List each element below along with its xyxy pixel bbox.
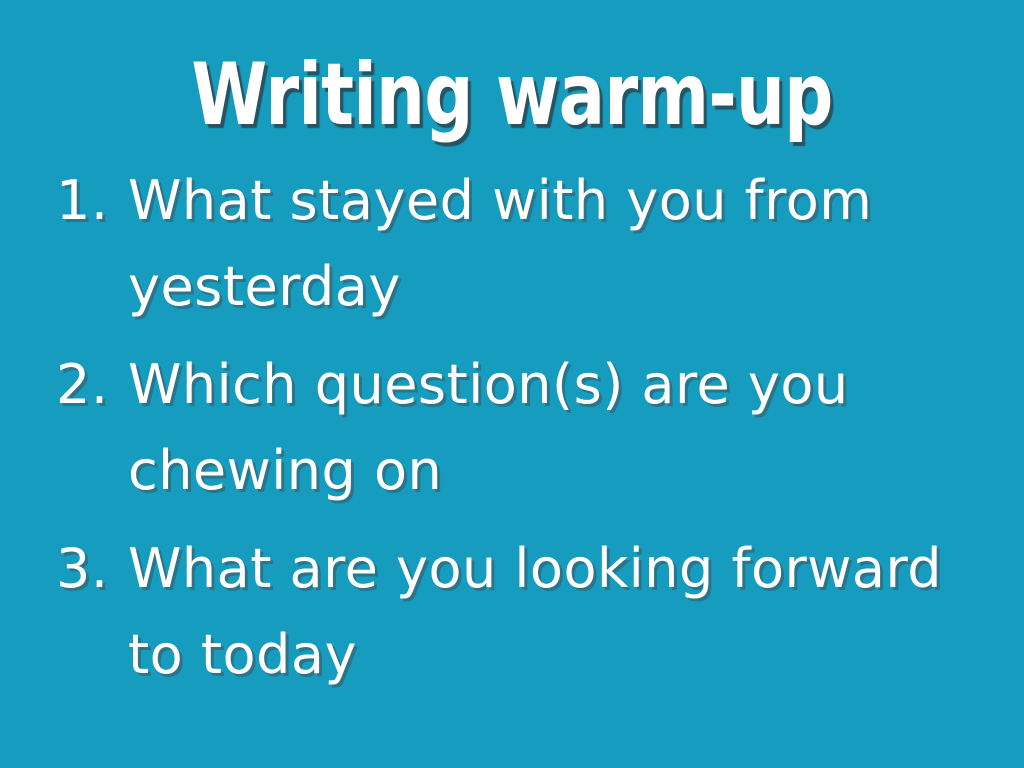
list-item: 1. What stayed with you from yesterday [52, 158, 982, 330]
list-item-text: What stayed with you from yesterday [128, 158, 982, 330]
list-item-text: Which question(s) are you chewing on [128, 342, 982, 514]
warmup-question-list: 1. What stayed with you from yesterday 2… [52, 158, 982, 710]
list-item-number: 3. [56, 526, 120, 612]
list-item-text: What are you looking forward to today [128, 526, 982, 698]
list-item-number: 1. [56, 158, 120, 244]
list-item: 2. Which question(s) are you chewing on [52, 342, 982, 514]
page-title: Writing warm-up [102, 52, 921, 138]
list-item: 3. What are you looking forward to today [52, 526, 982, 698]
presentation-slide: Writing warm-up 1. What stayed with you … [0, 0, 1024, 768]
list-item-number: 2. [56, 342, 120, 428]
